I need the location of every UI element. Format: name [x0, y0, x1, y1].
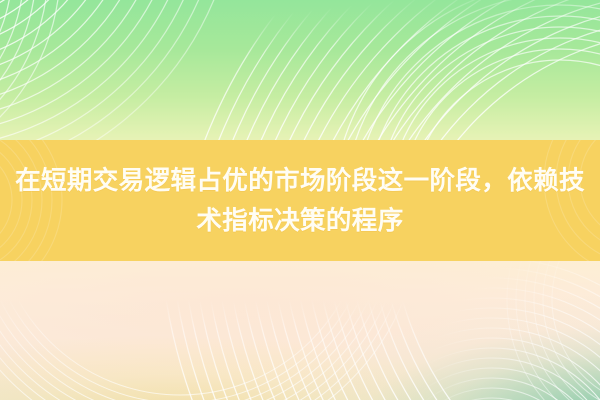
headline-line-1: 在短期交易逻辑占优的市场阶段这一阶段，依赖技	[0, 161, 600, 201]
poster-canvas: 在短期交易逻辑占优的市场阶段这一阶段，依赖技 术指标决策的程序	[0, 0, 600, 400]
headline-band: 在短期交易逻辑占优的市场阶段这一阶段，依赖技 术指标决策的程序	[0, 140, 600, 261]
headline-line-2: 术指标决策的程序	[0, 201, 600, 241]
